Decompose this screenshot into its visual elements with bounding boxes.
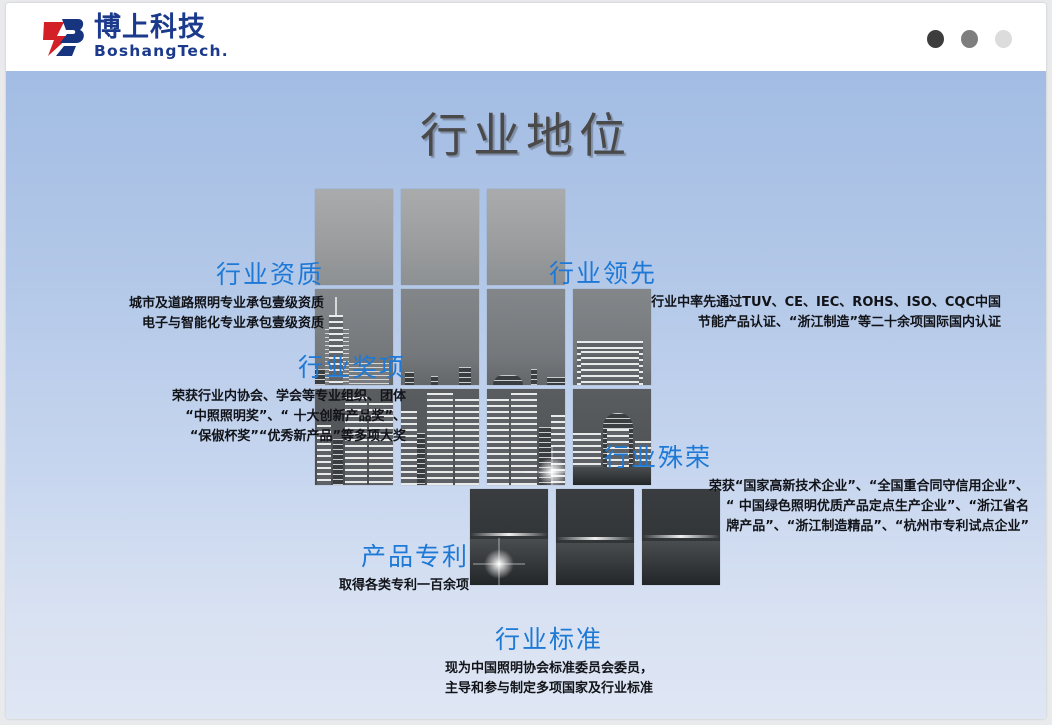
callout-line: 牌产品”、“浙江制造精品”、“杭州市专利试点企业” (604, 517, 1029, 537)
callout-line: 电子与智能化专业承包壹级资质 (46, 314, 324, 334)
mosaic-tile-sky-1 (315, 189, 393, 285)
callout-line: 荣获“国家高新技术企业”、“全国重合同守信用企业”、 (604, 477, 1029, 497)
callout-awards: 行业奖项 荣获行业内协会、学会等专业组织、团体 “中照照明奖”、“ 十大创新产品… (124, 354, 406, 447)
mosaic-tile-city-2 (401, 389, 479, 485)
callout-line: 取得各类专利一百余项 (244, 576, 469, 596)
logo-text-cn: 博上科技 (94, 14, 229, 41)
callout-line: “保俶杯奖”“优秀新产品”等多项大奖 (124, 427, 406, 447)
mosaic-tile-city-3 (487, 389, 565, 485)
mosaic-tile-sky-2 (401, 189, 479, 285)
callout-honors-head: 行业殊荣 (604, 444, 1029, 473)
callout-honors: 行业殊荣 荣获“国家高新技术企业”、“全国重合同守信用企业”、 “ 中国绿色照明… (604, 444, 1029, 537)
callout-line: 节能产品认证、“浙江制造”等二十余项国际国内认证 (549, 313, 1001, 333)
callout-qualification-head: 行业资质 (46, 261, 324, 290)
callout-line: 现为中国照明协会标准委员会委员， (394, 659, 704, 679)
slide-frame: 博上科技 BoshangTech. 行业地位 (6, 3, 1046, 719)
callout-honors-body: 荣获“国家高新技术企业”、“全国重合同守信用企业”、 “ 中国绿色照明优质产品定… (604, 477, 1029, 537)
callout-line: 行业中率先通过TUV、CE、IEC、ROHS、ISO、CQC中国 (549, 293, 1001, 313)
callout-leading-head: 行业领先 (549, 260, 1001, 289)
callout-patent-body: 取得各类专利一百余项 (244, 576, 469, 596)
callout-leading-body: 行业中率先通过TUV、CE、IEC、ROHS、ISO、CQC中国 节能产品认证、… (549, 293, 1001, 333)
callout-patent: 产品专利 取得各类专利一百余项 (244, 543, 469, 596)
callout-line: 城市及道路照明专业承包壹级资质 (46, 294, 324, 314)
callout-leading: 行业领先 行业中率先通过TUV、CE、IEC、ROHS、ISO、CQC中国 节能… (549, 260, 1001, 333)
slide-body: 行业地位 (6, 71, 1046, 719)
callout-standard: 行业标准 现为中国照明协会标准委员会委员， 主导和参与制定多项国家及行业标准 (394, 626, 704, 699)
callout-standard-head: 行业标准 (394, 626, 704, 655)
callout-line: 荣获行业内协会、学会等专业组织、团体 (124, 387, 406, 407)
callout-line: 主导和参与制定多项国家及行业标准 (394, 679, 704, 699)
window-dot-medium[interactable] (961, 30, 978, 48)
callout-standard-body: 现为中国照明协会标准委员会委员， 主导和参与制定多项国家及行业标准 (394, 659, 704, 699)
mosaic-tile-night-1 (470, 489, 548, 585)
header-bar: 博上科技 BoshangTech. (6, 3, 1046, 72)
logo-text-en: BoshangTech. (94, 44, 229, 60)
callout-line: “中照照明奖”、“ 十大创新产品奖”、 (124, 407, 406, 427)
window-dot-light[interactable] (995, 30, 1012, 48)
window-dot-dark[interactable] (927, 30, 944, 48)
callout-line: “ 中国绿色照明优质产品定点生产企业”、“浙江省名 (604, 497, 1029, 517)
boshang-b-logo-icon (42, 16, 86, 58)
mosaic-tile-skyline-2 (401, 289, 479, 385)
window-dots (927, 30, 1012, 48)
callout-qualification: 行业资质 城市及道路照明专业承包壹级资质 电子与智能化专业承包壹级资质 (46, 261, 324, 334)
callout-awards-body: 荣获行业内协会、学会等专业组织、团体 “中照照明奖”、“ 十大创新产品奖”、 “… (124, 387, 406, 447)
callout-awards-head: 行业奖项 (124, 354, 406, 383)
callout-patent-head: 产品专利 (244, 543, 469, 572)
company-logo[interactable]: 博上科技 BoshangTech. (42, 14, 229, 60)
callout-qualification-body: 城市及道路照明专业承包壹级资质 电子与智能化专业承包壹级资质 (46, 294, 324, 334)
